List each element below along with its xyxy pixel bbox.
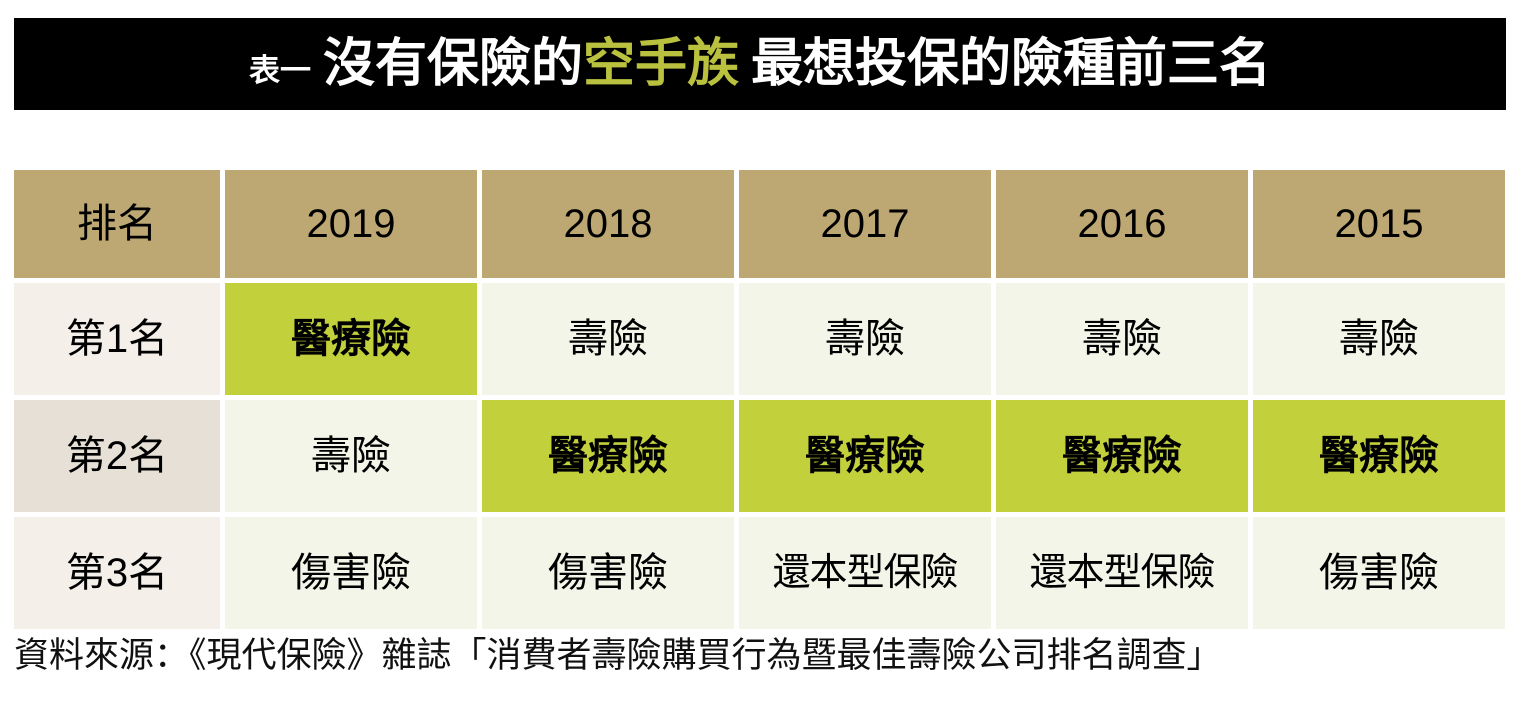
header-cell-2016: 2016	[996, 170, 1248, 278]
rank-label-1: 第1名	[14, 283, 220, 395]
data-cell-2018-rank2: 醫療險	[482, 400, 734, 512]
rank-label-3: 第3名	[14, 517, 220, 629]
data-cell-2017-rank3: 還本型保險	[739, 517, 991, 629]
data-cell-2018-rank3: 傷害險	[482, 517, 734, 629]
data-cell-2015-rank3: 傷害險	[1253, 517, 1505, 629]
data-cell-2019-rank1: 醫療險	[225, 283, 477, 395]
ranking-table: 排名 2019 2018 2017 2016 2015 第1名 醫療險 壽險 壽…	[14, 170, 1506, 629]
infographic-table-page: 表一 沒有保險的 空手族 最想投保的險種前三名 排名 2019 2018 201…	[0, 0, 1520, 706]
title-accent-highlight: 空手族	[583, 38, 739, 90]
data-cell-2015-rank2: 醫療險	[1253, 400, 1505, 512]
data-cell-2016-rank3: 還本型保險	[996, 517, 1248, 629]
header-cell-2018: 2018	[482, 170, 734, 278]
data-cell-2018-rank1: 壽險	[482, 283, 734, 395]
data-cell-2019-rank3: 傷害險	[225, 517, 477, 629]
data-cell-2015-rank1: 壽險	[1253, 283, 1505, 395]
header-cell-2015: 2015	[1253, 170, 1505, 278]
data-cell-2016-rank1: 壽險	[996, 283, 1248, 395]
header-cell-2017: 2017	[739, 170, 991, 278]
data-cell-2017-rank2: 醫療險	[739, 400, 991, 512]
title-prefix: 表一	[249, 55, 311, 86]
data-cell-2019-rank2: 壽險	[225, 400, 477, 512]
title-banner: 表一 沒有保險的 空手族 最想投保的險種前三名	[14, 18, 1506, 110]
table-row: 第2名 壽險 醫療險 醫療險 醫療險 醫療險	[14, 400, 1506, 512]
data-cell-2016-rank2: 醫療險	[996, 400, 1248, 512]
table-header-row: 排名 2019 2018 2017 2016 2015	[14, 170, 1506, 278]
data-cell-2017-rank1: 壽險	[739, 283, 991, 395]
title-segment-1: 沒有保險的	[323, 38, 583, 90]
title-text: 表一 沒有保險的 空手族 最想投保的險種前三名	[249, 38, 1271, 90]
rank-label-2: 第2名	[14, 400, 220, 512]
header-cell-2019: 2019	[225, 170, 477, 278]
table-row: 第3名 傷害險 傷害險 還本型保險 還本型保險 傷害險	[14, 517, 1506, 629]
table-row: 第1名 醫療險 壽險 壽險 壽險 壽險	[14, 283, 1506, 395]
source-footnote: 資料來源：《現代保險》雜誌「消費者壽險購買行為暨最佳壽險公司排名調查」	[14, 632, 1506, 679]
title-segment-2: 最想投保的險種前三名	[751, 38, 1271, 90]
header-cell-rank: 排名	[14, 170, 220, 278]
